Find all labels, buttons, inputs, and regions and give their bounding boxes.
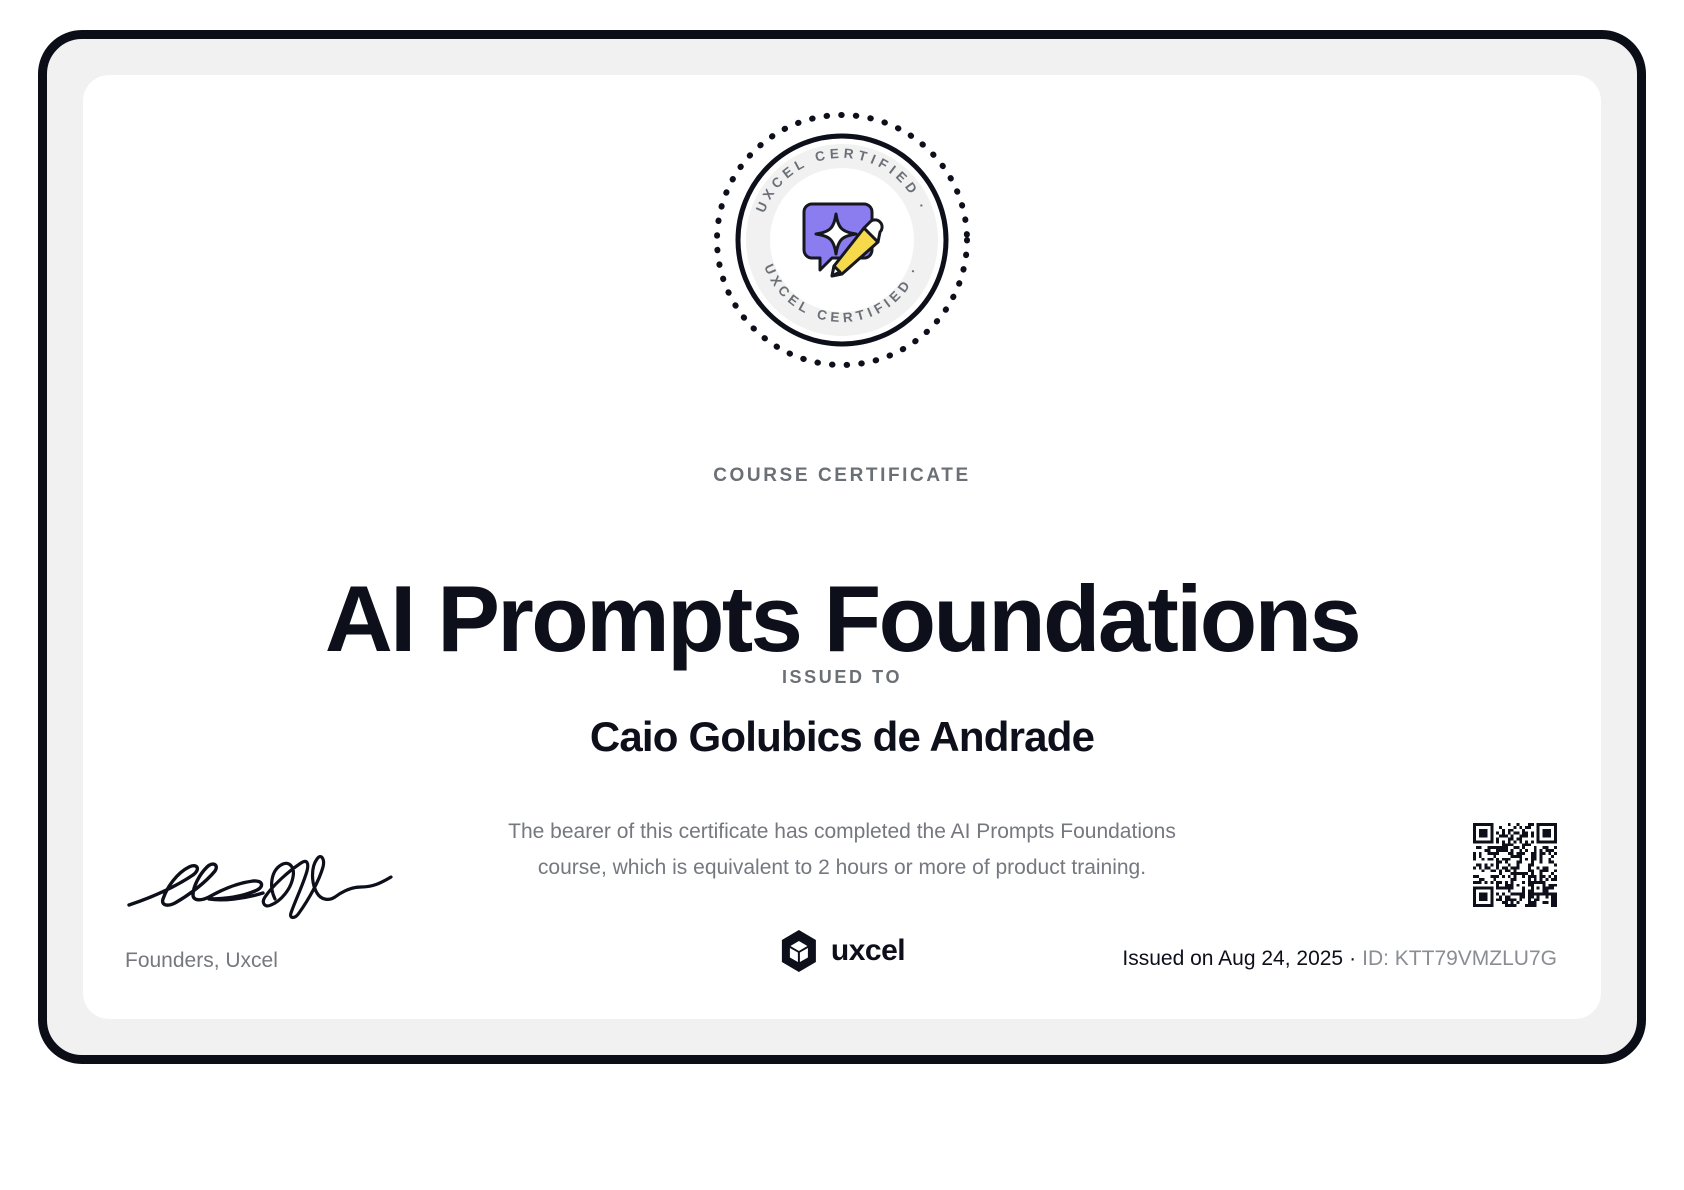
verification-qr-code[interactable] — [1473, 823, 1557, 907]
uxcel-hexagon-cube-logo — [779, 929, 819, 973]
course-certificate-kicker: COURSE CERTIFICATE — [83, 465, 1601, 487]
issued-on-text: Issued on Aug 24, 2025 — [1122, 947, 1343, 970]
founder-signatures — [123, 843, 423, 923]
certificate-description: The bearer of this certificate has compl… — [472, 814, 1212, 886]
course-title: AI Prompts Foundations — [143, 563, 1541, 675]
certificate-card: UXCEL CERTIFIED · UXCEL CERTIFIED · — [83, 75, 1601, 1019]
issue-info: Issued on Aug 24, 2025·ID: KTT79VMZLU7G — [1122, 947, 1557, 971]
certification-seal: UXCEL CERTIFIED · UXCEL CERTIFIED · — [709, 107, 975, 373]
founders-label: Founders, Uxcel — [125, 949, 278, 973]
issued-to-label: ISSUED TO — [83, 667, 1601, 688]
recipient-name: Caio Golubics de Andrade — [83, 713, 1601, 761]
certificate-frame: UXCEL CERTIFIED · UXCEL CERTIFIED · — [38, 30, 1646, 1064]
certificate-id: ID: KTT79VMZLU7G — [1362, 947, 1557, 970]
issue-separator: · — [1343, 947, 1362, 970]
uxcel-brand: uxcel — [779, 929, 905, 973]
uxcel-wordmark: uxcel — [831, 934, 905, 968]
